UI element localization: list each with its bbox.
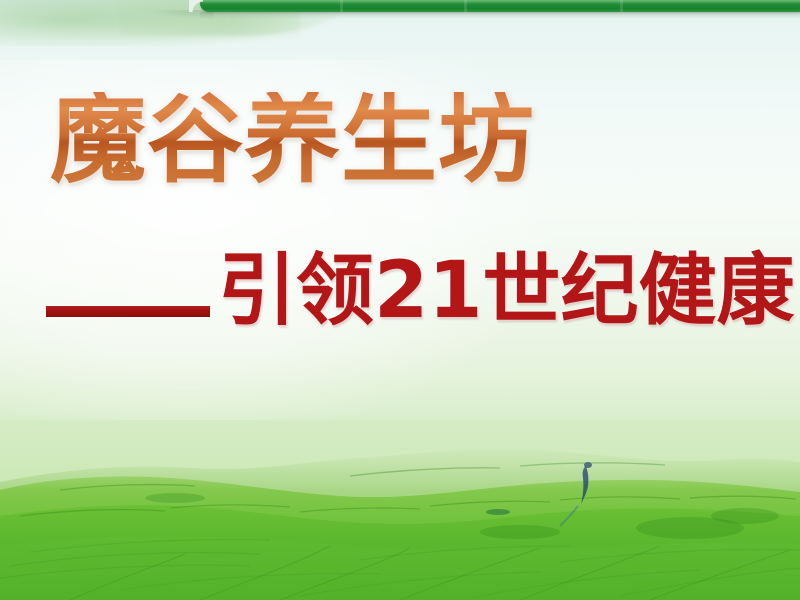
topbar-shadow xyxy=(200,12,800,19)
subtitle-text: 引领21世纪健康! xyxy=(218,252,800,330)
topbar-divider xyxy=(340,0,343,12)
topbar-highlight xyxy=(200,0,800,4)
topbar-divider xyxy=(620,0,623,12)
topbar-shadow-left xyxy=(150,10,214,19)
bush-icon xyxy=(486,509,510,515)
landscape-illustration xyxy=(0,420,800,600)
promo-banner: 魔谷养生坊 引领21世纪健康! xyxy=(0,0,800,600)
subtitle-row: 引领21世纪健康! xyxy=(46,252,800,330)
topbar-divider xyxy=(464,0,467,12)
subtitle-dash-rule xyxy=(46,306,210,317)
top-green-bar[interactable] xyxy=(200,0,800,12)
page-title: 魔谷养生坊 xyxy=(50,92,535,188)
